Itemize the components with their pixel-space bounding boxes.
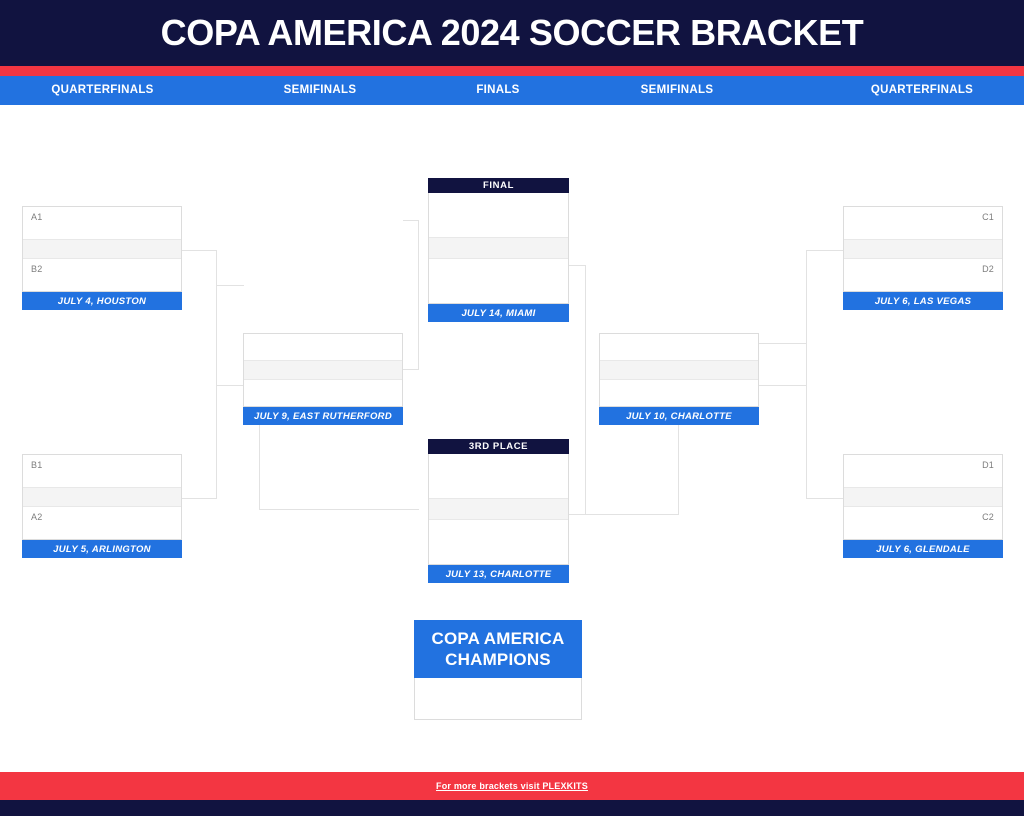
qf4-top-seed-label: D1 [982,460,994,470]
connector-thirdplace-right [568,514,586,515]
qf2-bottom-seed-label: A2 [31,512,42,522]
match-box-semifinal-right[interactable]: JULY 10, CHARLOTTE [599,333,759,425]
connector-sf2-out-horizontal [585,514,679,515]
qf4-bottom-slot[interactable]: C2 [844,507,1002,539]
semifinal-left-date-venue: JULY 9, EAST RUTHERFORD [243,407,403,425]
page-header: COPA AMERICA 2024 SOCCER BRACKET [0,0,1024,66]
qf2-body: B1 A2 [22,454,182,540]
final-date-venue: JULY 14, MIAMI [428,304,569,322]
qf2-top-seed-label: B1 [31,460,42,470]
qf4-date-venue: JULY 6, GLENDALE [843,540,1003,558]
semifinal-right-top-slot[interactable] [600,334,758,360]
qf4-bottom-seed-label: C2 [982,512,994,522]
connector-right-sf2-vertical [806,250,807,385]
qf3-divider [844,239,1002,259]
qf1-top-slot[interactable]: A1 [23,207,181,239]
footer-banner: For more brackets visit PLEXKITS [0,772,1024,800]
qf1-bottom-slot[interactable]: B2 [23,259,181,291]
round-label-semifinals-left: SEMIFINALS [220,76,420,105]
champion-box[interactable]: COPA AMERICA CHAMPIONS [414,620,582,720]
connector-right-sf2-vertical-lower [806,385,807,499]
qf3-body: C1 D2 [843,206,1003,292]
semifinal-left-top-slot[interactable] [244,334,402,360]
semifinal-right-body [599,333,759,407]
round-label-finals: FINALS [412,76,584,105]
qf1-bottom-seed-label: B2 [31,264,42,274]
champion-winner-slot[interactable] [414,678,582,720]
qf1-body: A1 B2 [22,206,182,292]
connector-sf1-out-horizontal [259,509,419,510]
qf3-bottom-seed-label: D2 [982,264,994,274]
round-label-quarterfinals-right: QUARTERFINALS [820,76,1024,105]
third-place-top-slot[interactable] [429,454,568,498]
final-bottom-slot[interactable] [429,259,568,303]
connector-left-sf1-vertical-lower [216,385,217,499]
connector-sf1-out [259,420,260,510]
match-box-semifinal-left[interactable]: JULY 9, EAST RUTHERFORD [243,333,403,425]
match-box-qf3[interactable]: C1 D2 JULY 6, LAS VEGAS [843,206,1003,310]
match-box-qf2[interactable]: B1 A2 JULY 5, ARLINGTON [22,454,182,558]
match-box-qf1[interactable]: A1 B2 JULY 4, HOUSTON [22,206,182,310]
round-label-semifinals-right: SEMIFINALS [578,76,776,105]
footer-navy-strip [0,800,1024,816]
header-red-stripe [0,66,1024,76]
connector-center-right-vertical [585,265,586,515]
third-place-divider [429,498,568,520]
qf4-body: D1 C2 [843,454,1003,540]
connector-sf2-entry-lower [759,385,807,386]
connector-center-left-vertical [418,220,419,370]
champion-title-line2: CHAMPIONS [445,649,551,670]
semifinal-right-bottom-slot[interactable] [600,380,758,406]
round-label-quarterfinals-left: QUARTERFINALS [0,76,205,105]
connector-sf2-to-final-horizontal [568,265,586,266]
qf2-bottom-slot[interactable]: A2 [23,507,181,539]
third-place-body [428,454,569,565]
connector-sf1-to-thirdplace-horizontal [403,369,419,370]
third-place-bottom-slot[interactable] [429,520,568,564]
semifinal-right-date-venue: JULY 10, CHARLOTTE [599,407,759,425]
final-top-slot[interactable] [429,193,568,237]
semifinal-left-divider [244,360,402,380]
connector-sf1-entry-lower [216,385,244,386]
qf2-date-venue: JULY 5, ARLINGTON [22,540,182,558]
match-box-third-place[interactable]: 3RD PLACE JULY 13, CHARLOTTE [428,439,569,583]
third-place-date-venue: JULY 13, CHARLOTTE [428,565,569,583]
connector-sf1-entry [216,285,244,286]
connector-left-sf1-vertical [216,250,217,385]
qf1-top-seed-label: A1 [31,212,42,222]
page-title: COPA AMERICA 2024 SOCCER BRACKET [161,12,864,54]
semifinal-right-divider [600,360,758,380]
qf4-divider [844,487,1002,507]
connector-sf2-out-vertical [678,420,679,515]
connector-sf2-entry [759,343,807,344]
qf4-top-slot[interactable]: D1 [844,455,1002,487]
connector-qf2-horizontal [181,498,217,499]
match-box-final[interactable]: FINAL JULY 14, MIAMI [428,178,569,322]
qf3-top-slot[interactable]: C1 [844,207,1002,239]
connector-qf4-horizontal [806,498,844,499]
final-body [428,193,569,304]
third-place-header-label: 3RD PLACE [428,439,569,454]
connector-qf3-horizontal [806,250,844,251]
connector-qf1-horizontal [181,250,217,251]
qf2-top-slot[interactable]: B1 [23,455,181,487]
qf1-divider [23,239,181,259]
champion-title: COPA AMERICA CHAMPIONS [414,620,582,678]
final-divider [429,237,568,259]
bracket-page: COPA AMERICA 2024 SOCCER BRACKET QUARTER… [0,0,1024,816]
semifinal-left-body [243,333,403,407]
qf3-bottom-slot[interactable]: D2 [844,259,1002,291]
qf2-divider [23,487,181,507]
footer-link[interactable]: For more brackets visit PLEXKITS [436,781,588,791]
semifinal-left-bottom-slot[interactable] [244,380,402,406]
match-box-qf4[interactable]: D1 C2 JULY 6, GLENDALE [843,454,1003,558]
qf1-date-venue: JULY 4, HOUSTON [22,292,182,310]
champion-title-line1: COPA AMERICA [431,628,564,649]
final-header-label: FINAL [428,178,569,193]
connector-sf1-to-final-horizontal [403,220,419,221]
qf3-top-seed-label: C1 [982,212,994,222]
qf3-date-venue: JULY 6, LAS VEGAS [843,292,1003,310]
